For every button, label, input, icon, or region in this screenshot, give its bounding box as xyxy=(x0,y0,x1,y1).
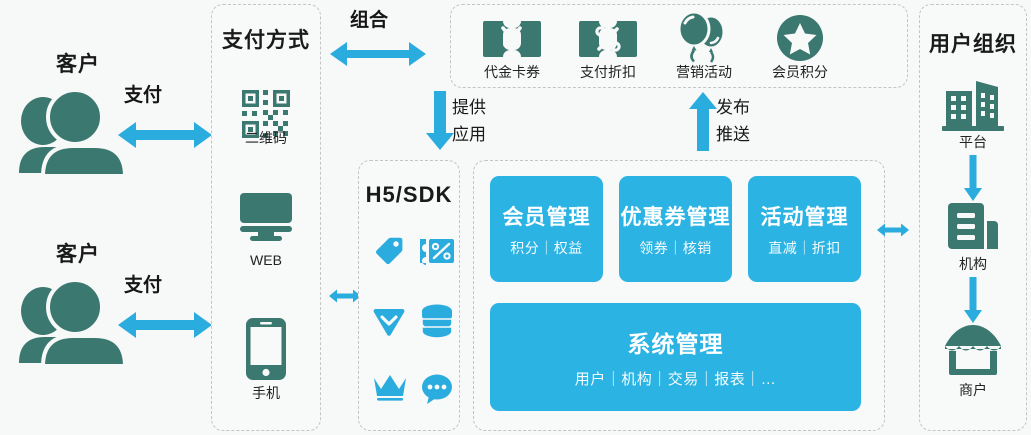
payment-arrow-label-1: 支付 xyxy=(124,84,162,108)
system-subtitle: 用户｜机构｜交易｜报表｜… xyxy=(575,368,777,389)
marketing-asset-label-0: 代金卡券 xyxy=(462,62,562,82)
diamond-chevron-icon xyxy=(372,304,406,338)
store-icon xyxy=(941,322,1005,378)
publish-label-line1: 发布 xyxy=(716,97,750,118)
database-icon xyxy=(420,303,454,339)
balloons-icon xyxy=(670,12,738,62)
marketing-asset-label-1: 支付折扣 xyxy=(558,62,658,82)
payment-arrow-label-2: 支付 xyxy=(124,274,162,298)
org-down-arrow-1 xyxy=(956,154,990,204)
payment-double-arrow-1 xyxy=(115,118,215,152)
module-title-1: 优惠券管理 xyxy=(621,201,731,231)
marketing-asset-label-3: 会员积分 xyxy=(750,62,850,82)
module-title-2: 活动管理 xyxy=(761,201,849,231)
user-org-title: 用户组织 xyxy=(919,28,1027,58)
user-org-label-2: 商户 xyxy=(919,380,1027,400)
marketing-asset-label-2: 营销活动 xyxy=(654,62,754,82)
office-building-icon xyxy=(941,200,1005,252)
discount-ticket-icon xyxy=(420,236,454,266)
provide-label-line1: 提供 xyxy=(452,97,486,118)
percent-coupon-icon xyxy=(574,16,642,62)
buildings-icon xyxy=(941,76,1005,132)
payment-method-label-0: 二维码 xyxy=(211,128,321,148)
module-title-0: 会员管理 xyxy=(503,201,591,231)
payment-double-arrow-2 xyxy=(115,308,215,342)
monitor-icon xyxy=(234,190,298,244)
org-down-arrow-2 xyxy=(956,276,990,326)
tag-icon xyxy=(372,234,406,268)
customer-label-1: 客户 xyxy=(18,48,138,78)
system-title: 系统管理 xyxy=(628,325,724,359)
combine-double-arrow xyxy=(326,38,430,70)
module-card-coupon[interactable]: 优惠券管理 领券｜核销 xyxy=(619,176,732,282)
core-org-double-arrow xyxy=(874,218,912,242)
payment-methods-title: 支付方式 xyxy=(211,24,321,54)
customer-label-2: 客户 xyxy=(18,238,138,268)
payment-method-label-1: WEB xyxy=(211,252,321,268)
module-card-campaign[interactable]: 活动管理 直减｜折扣 xyxy=(748,176,861,282)
user-org-label-1: 机构 xyxy=(919,254,1027,274)
user-org-label-0: 平台 xyxy=(919,132,1027,152)
chat-bubble-icon xyxy=(420,373,454,405)
combine-arrow-label: 组合 xyxy=(350,9,388,33)
module-card-system[interactable]: 系统管理 用户｜机构｜交易｜报表｜… xyxy=(490,303,861,411)
yen-coupon-icon xyxy=(478,16,546,62)
sdk-title: H5/SDK xyxy=(358,182,460,208)
module-subtitle-1: 领券｜核销 xyxy=(639,238,712,258)
architecture-diagram: 客户 支付 客户 支付 支付方式 xyxy=(0,0,1031,435)
provide-label-line2: 应用 xyxy=(452,124,486,145)
module-card-member[interactable]: 会员管理 积分｜权益 xyxy=(490,176,603,282)
star-circle-icon xyxy=(766,14,834,62)
module-subtitle-2: 直减｜折扣 xyxy=(768,238,841,258)
module-subtitle-0: 积分｜权益 xyxy=(510,238,583,258)
crown-icon xyxy=(372,372,408,404)
payment-method-label-2: 手机 xyxy=(211,383,321,403)
publish-label-line2: 推送 xyxy=(716,124,750,145)
mobile-icon xyxy=(234,318,298,380)
